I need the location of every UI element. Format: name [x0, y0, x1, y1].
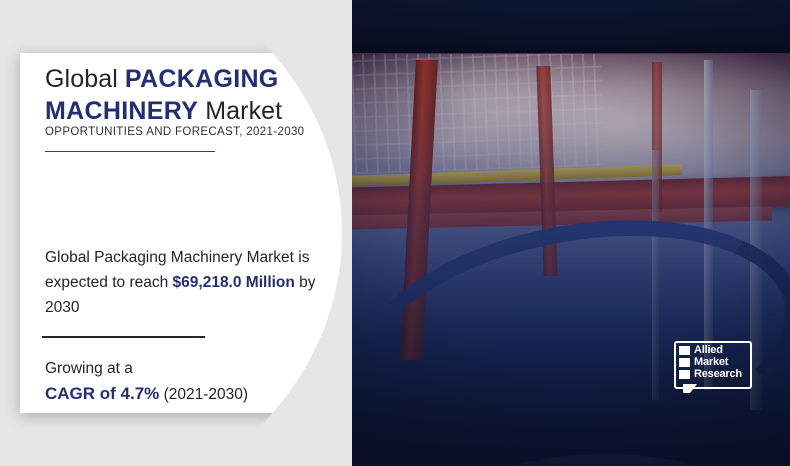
logo-text-research: Research	[694, 369, 742, 379]
logo-square-icon	[679, 370, 690, 379]
divider-middle	[42, 336, 205, 338]
logo-row-market: Market	[679, 357, 728, 367]
allied-market-research-logo: Allied Market Research	[674, 341, 748, 393]
logo-square-icon	[679, 346, 690, 355]
logo-text-allied: Allied	[694, 345, 723, 355]
logo-square-icon	[679, 358, 690, 367]
title-text-machinery: MACHINERY	[45, 97, 198, 125]
logo-row-research: Research	[679, 369, 742, 379]
logo-row-allied: Allied	[679, 345, 723, 355]
market-value-statement: Global Packaging Machinery Market is exp…	[45, 245, 345, 320]
cagr-statement: Growing at aCAGR of 4.7% (2021-2030)	[45, 356, 345, 407]
background-photo	[352, 0, 790, 466]
divider-top	[45, 151, 215, 152]
cagr-period: (2021-2030)	[159, 386, 248, 403]
card-inner: Global PACKAGINGMACHINERY Market OPPORTU…	[20, 53, 350, 413]
title-text-market: Market	[198, 97, 282, 125]
photo-vignette	[352, 0, 790, 466]
logo-text-market: Market	[694, 357, 728, 367]
page-title: Global PACKAGINGMACHINERY Market	[45, 63, 335, 127]
subtitle: OPPORTUNITIES AND FORECAST, 2021-2030	[45, 126, 304, 138]
speech-bubble-tail-icon	[683, 384, 697, 393]
infographic-banner: Global PACKAGINGMACHINERY Market OPPORTU…	[0, 0, 790, 466]
cagr-value: CAGR of 4.7%	[45, 384, 159, 403]
stat-value: $69,218.0 Million	[173, 274, 295, 291]
title-text-packaging: PACKAGING	[125, 65, 279, 93]
cagr-lead-text: Growing at a	[45, 360, 133, 377]
title-text-global: Global	[45, 65, 125, 93]
